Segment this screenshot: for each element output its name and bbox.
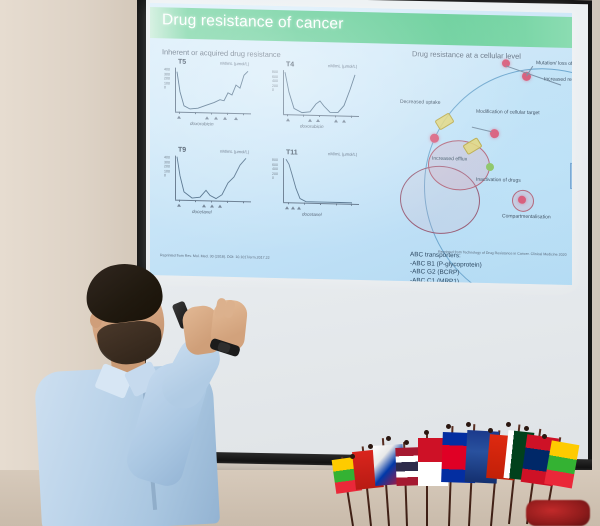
presenter <box>20 250 320 526</box>
info-box-apoptosis: Altered apoptotic response <box>570 163 572 190</box>
cell-diagram: Mutation/ loss of receptors Decreased up… <box>406 55 572 275</box>
chart-t11: T11 nM/mL (µmol/L) 8006004002000 docetax… <box>272 148 372 220</box>
label-compartmentalisation: Compartmentalisation <box>502 213 551 220</box>
abc-transporters-list: ABC transporters: -ABC B1 (P-glycoprotei… <box>410 251 482 285</box>
chart-t4-xlabel: doxorubicin <box>300 124 324 130</box>
inactivation-dot <box>486 163 494 171</box>
compartment-dot <box>518 196 526 204</box>
chart-t5-xlabel: doxorubicin <box>190 121 214 127</box>
label-inactivation-drugs: Inactivation of drugs <box>476 177 521 184</box>
chart-t4: T4 nM/mL (µmol/L) 8006004002000 doxorubi… <box>272 60 372 132</box>
label-mutation-receptors: Mutation/ loss of receptors <box>536 60 572 67</box>
flag-base-pile <box>526 500 590 526</box>
chart-t11-xlabel: docetaxel <box>302 212 322 217</box>
chart-t9-xlabel: docetaxel <box>192 209 212 214</box>
drug-dot-uptake <box>430 134 439 143</box>
label-decreased-uptake: Decreased uptake <box>400 99 441 106</box>
chart-t5: T5 nM/mL (µmol/L) 4003002001000 doxorubi… <box>164 57 264 129</box>
desk-flags-cluster <box>330 412 592 526</box>
myanmar-flag-2 <box>544 440 579 488</box>
projected-slide: Drug resistance of cancer Inherent or ac… <box>150 3 572 285</box>
chart-t9: T9 nM/mL (µmol/L) 4003002001000 docetaxe… <box>164 145 264 217</box>
label-increased-efflux: Increased efflux <box>432 156 467 163</box>
presenter-beard <box>96 319 164 367</box>
lecture-room-photo: Drug resistance of cancer Inherent or ac… <box>0 0 600 526</box>
